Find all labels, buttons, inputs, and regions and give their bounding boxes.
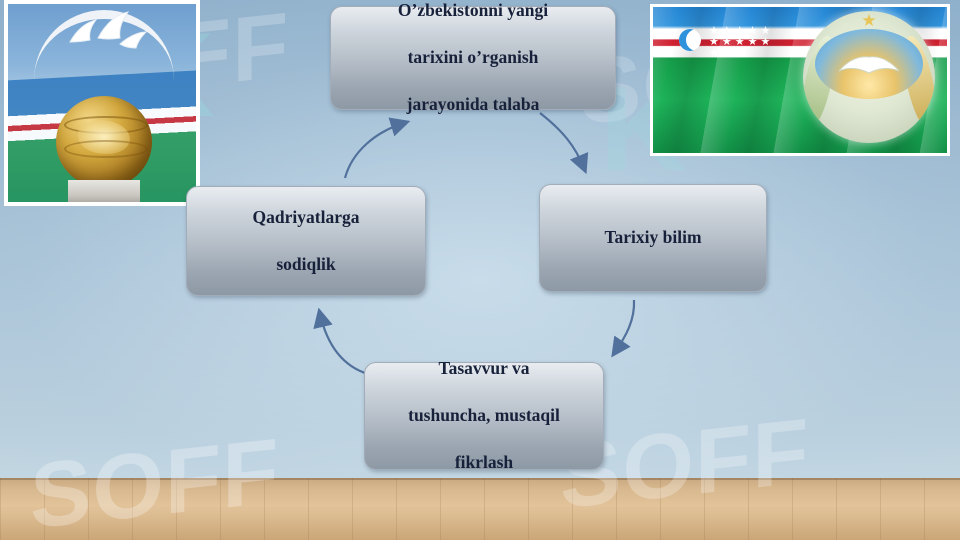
slide-canvas: SOFF SOFF SOFF SOFF K K ★★★★★★★★★★★★ — [0, 0, 960, 540]
uzbekistan-emblem: ★ — [803, 11, 935, 143]
diagram-node-bottom-label: Tasavvur vatushuncha, mustaqilfikrlash — [388, 357, 580, 475]
crescent-moon-icon — [679, 29, 701, 51]
diagram-node-left[interactable]: Qadriyatlargasodiqlik — [186, 186, 426, 296]
diagram-node-top-label: O’zbekistonni yangitarixini o’rganishjar… — [378, 0, 568, 117]
flag-emblem-image: ★★★★★★★★★★★★ ★ — [650, 4, 950, 156]
diagram-node-bottom[interactable]: Tasavvur vatushuncha, mustaqilfikrlash — [364, 362, 604, 470]
stork-icon — [60, 8, 152, 64]
monument-pedestal — [68, 180, 140, 206]
slide-background-floor — [0, 478, 960, 540]
diagram-node-right-label: Tarixiy bilim — [594, 226, 711, 250]
monument-map-outline — [78, 120, 130, 154]
diagram-node-top[interactable]: O’zbekistonni yangitarixini o’rganishjar… — [330, 6, 616, 110]
diagram-node-right[interactable]: Tarixiy bilim — [539, 184, 767, 292]
emblem-humo-bird-icon — [835, 51, 903, 81]
floor-edge-line — [0, 478, 960, 480]
emblem-star-icon: ★ — [861, 13, 877, 29]
diagram-node-left-label: Qadriyatlargasodiqlik — [233, 206, 380, 277]
monument-globe — [56, 96, 152, 188]
stars-icon: ★★★★★★★★★★★★ — [709, 25, 795, 59]
monument-image — [4, 0, 200, 206]
